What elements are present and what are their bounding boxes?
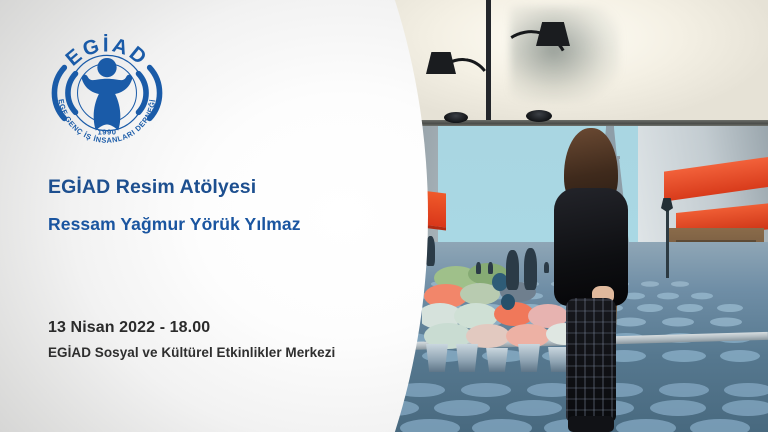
woman-legs bbox=[566, 298, 616, 422]
event-datetime: 13 Nisan 2022 - 18.00 bbox=[48, 319, 210, 337]
egiad-logo: EGİAD EGE GENÇ İŞ İNSANLARI DERNEĞİ 1990 bbox=[46, 30, 168, 156]
woman-standing-foreground bbox=[544, 128, 640, 432]
woman-shoes bbox=[568, 416, 614, 432]
pedestrian bbox=[524, 248, 537, 290]
bucket bbox=[424, 344, 450, 372]
pedestrian bbox=[488, 262, 493, 274]
artist-subtitle: Ressam Yağmur Yörük Yılmaz bbox=[48, 214, 301, 235]
bucket bbox=[484, 348, 510, 372]
pedestrian bbox=[506, 250, 519, 290]
page-title: EGİAD Resim Atölyesi bbox=[48, 176, 256, 199]
street-lamp-post-right bbox=[666, 208, 669, 278]
logo-year-text: 1990 bbox=[98, 128, 117, 137]
bucket bbox=[516, 344, 542, 372]
event-poster: EGİAD EGE GENÇ İŞ İNSANLARI DERNEĞİ 1990… bbox=[0, 0, 768, 432]
woman-torso bbox=[554, 188, 628, 306]
bucket bbox=[454, 344, 480, 372]
event-venue: EGİAD Sosyal ve Kültürel Etkinlikler Mer… bbox=[48, 345, 335, 360]
hanging-lamp-right bbox=[480, 22, 576, 134]
pedestrian bbox=[476, 262, 481, 274]
